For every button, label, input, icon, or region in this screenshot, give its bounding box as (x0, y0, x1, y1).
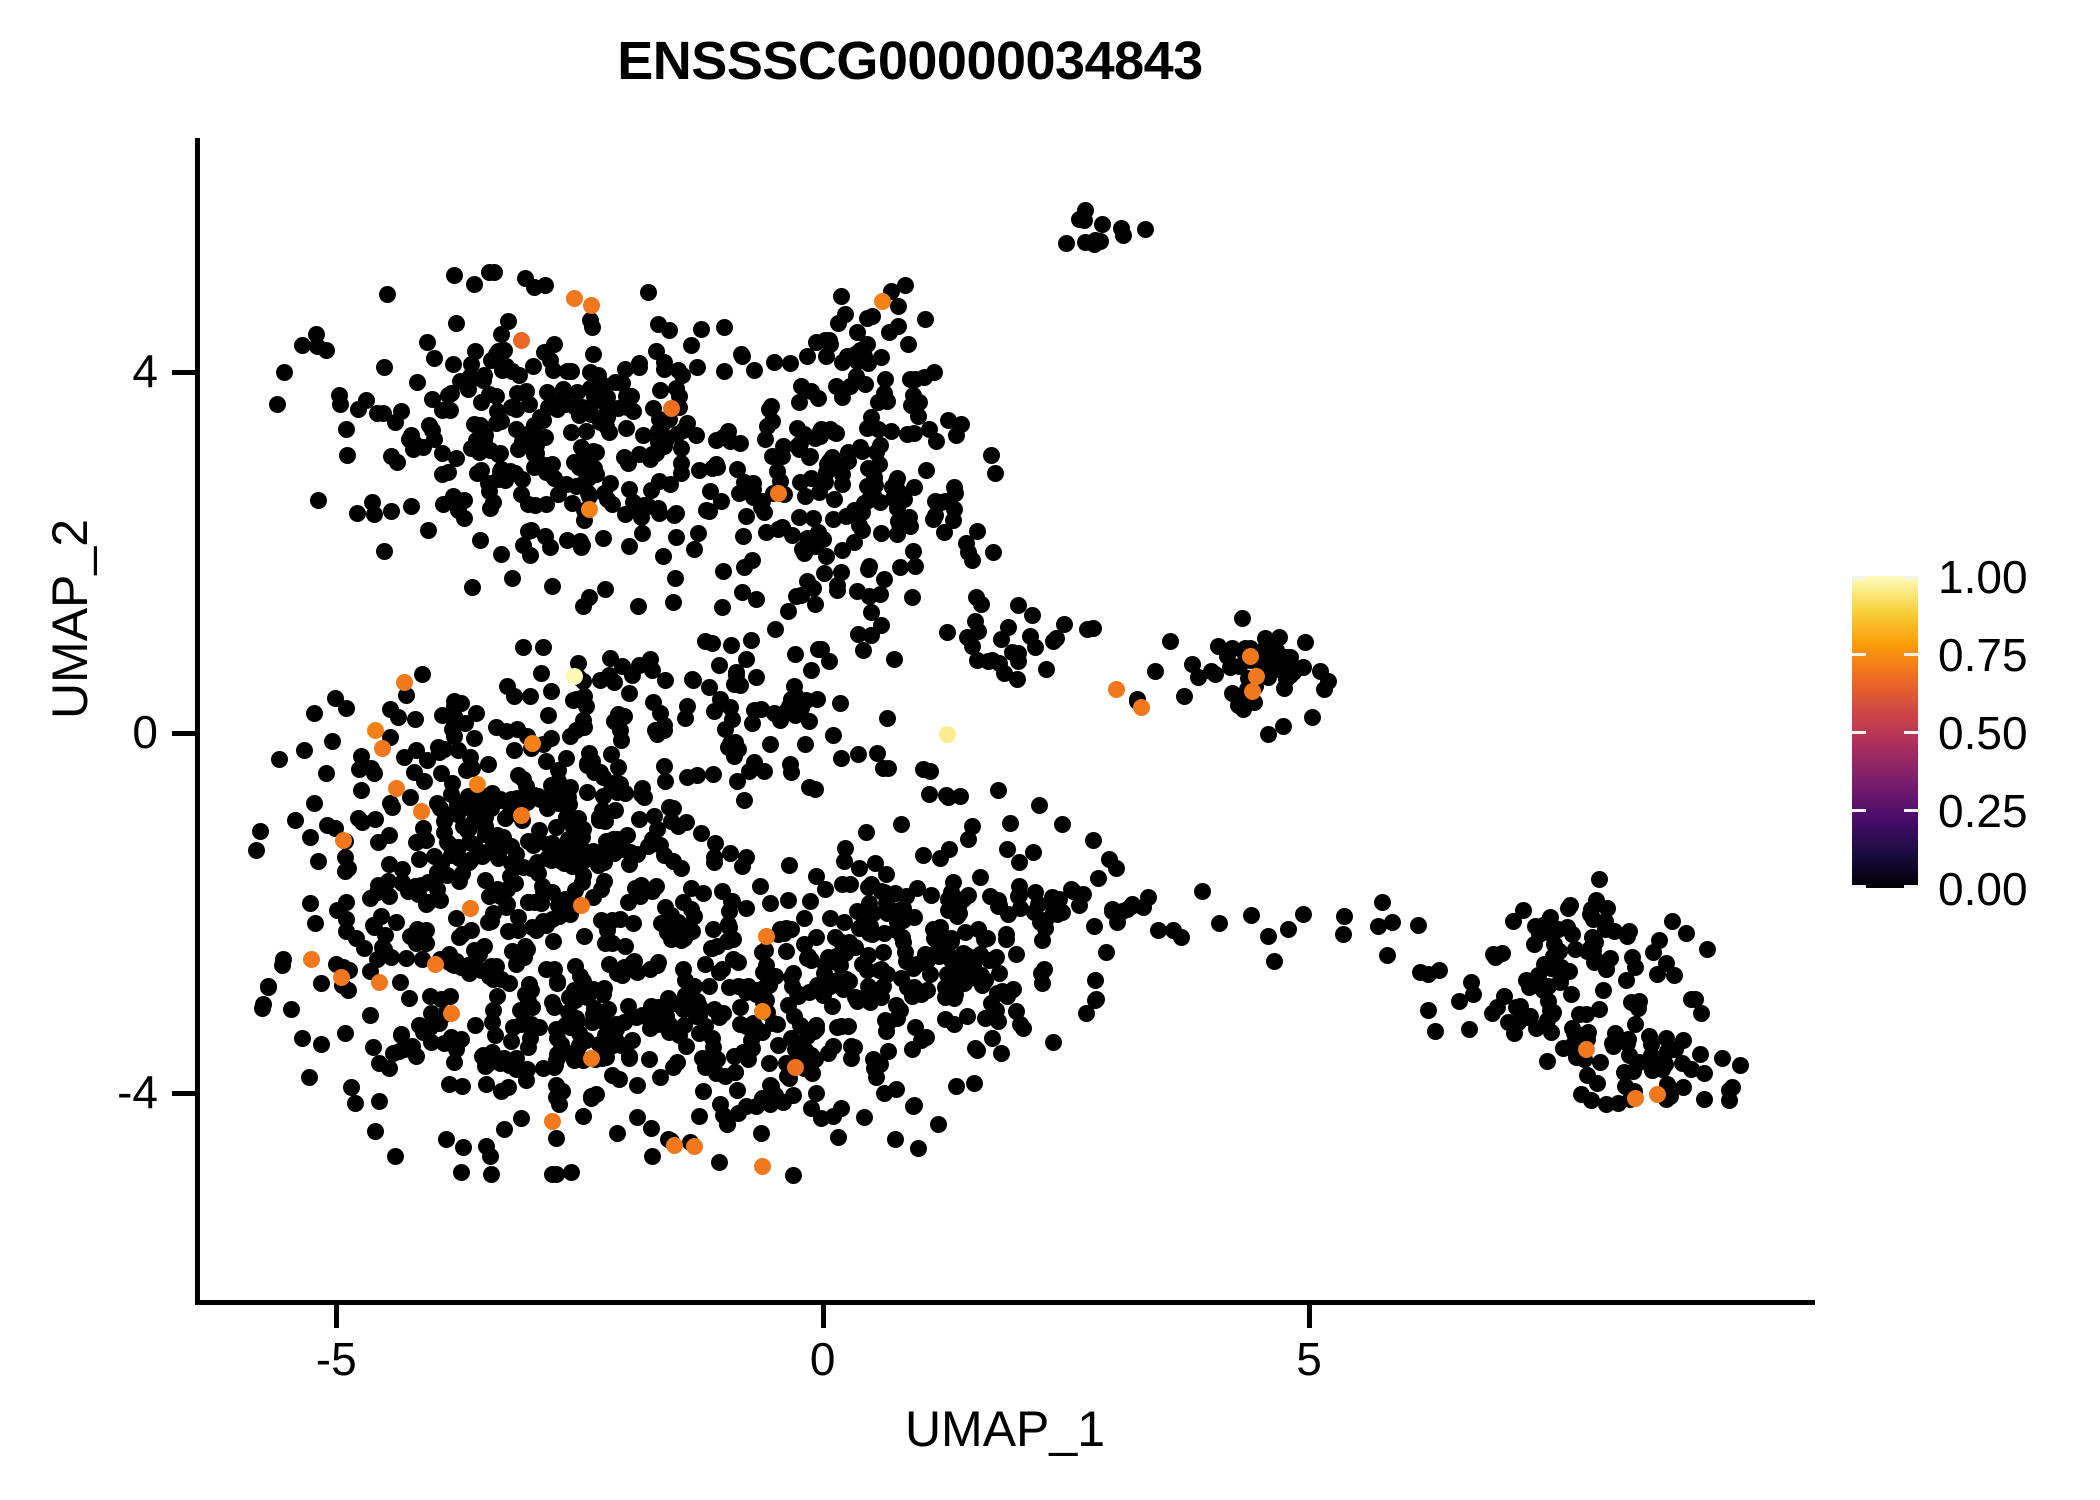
data-point (493, 792, 510, 809)
data-point (477, 872, 494, 889)
x-tick-label: 0 (743, 1336, 903, 1382)
colorbar-tick-label: 0.00 (1938, 866, 2028, 912)
data-point (697, 956, 714, 973)
data-point (730, 954, 747, 971)
data-point-highlighted (374, 740, 391, 757)
data-point (880, 760, 897, 777)
data-point (1592, 1054, 1609, 1071)
data-point (876, 1085, 893, 1102)
data-point (960, 887, 977, 904)
colorbar-tick-mark (1852, 731, 1866, 734)
data-point (969, 1042, 986, 1059)
data-point (1176, 688, 1193, 705)
data-point-highlighted (469, 776, 486, 793)
data-point (489, 403, 506, 420)
data-point (538, 753, 555, 770)
data-point (466, 730, 483, 747)
data-point (517, 986, 534, 1003)
data-point-highlighted (787, 1059, 804, 1076)
data-point (1045, 894, 1062, 911)
data-point (1058, 235, 1075, 252)
data-point (604, 912, 621, 929)
plot-panel (200, 138, 1815, 1300)
data-point (1521, 979, 1538, 996)
data-point (668, 529, 685, 546)
data-point (716, 363, 733, 380)
data-point (1410, 917, 1427, 934)
data-point (483, 352, 500, 369)
data-point (383, 949, 400, 966)
data-point (897, 277, 914, 294)
data-point (688, 427, 705, 444)
data-point (426, 350, 443, 367)
data-point (466, 276, 483, 293)
data-point (850, 746, 867, 763)
data-point (1295, 906, 1312, 923)
data-point (366, 765, 383, 782)
data-point (563, 1164, 580, 1181)
data-point (575, 598, 592, 615)
data-point (1162, 633, 1179, 650)
data-point (1010, 653, 1027, 670)
data-point (309, 338, 326, 355)
data-point (984, 1030, 1001, 1047)
x-tick-mark (334, 1305, 339, 1328)
y-tick-mark (172, 1091, 195, 1096)
data-point (984, 652, 1001, 669)
data-point (1173, 929, 1190, 946)
data-point-highlighted (1244, 683, 1261, 700)
data-point (1651, 932, 1668, 949)
data-point (861, 925, 878, 942)
data-point-highlighted (371, 974, 388, 991)
data-point (720, 739, 737, 756)
data-point (347, 1095, 364, 1112)
data-point (489, 988, 506, 1005)
data-point (987, 465, 1004, 482)
data-point (567, 399, 584, 416)
data-point (964, 638, 981, 655)
data-point (525, 358, 542, 375)
data-point (383, 503, 400, 520)
data-point (364, 494, 381, 511)
data-point (758, 524, 775, 541)
data-point (796, 545, 813, 562)
data-point-highlighted (874, 293, 891, 310)
data-point (746, 362, 763, 379)
data-point (889, 470, 906, 487)
data-point (958, 947, 975, 964)
data-point (899, 426, 916, 443)
data-point (493, 546, 510, 563)
umap-feature-plot: ENSSSCG00000034843 40-4 -505 UMAP_1 UMAP… (0, 0, 2100, 1500)
data-point (877, 1012, 894, 1029)
data-point (307, 915, 324, 932)
data-point (744, 552, 761, 569)
data-point (678, 814, 695, 831)
data-point (712, 691, 729, 708)
data-point (496, 1121, 513, 1138)
data-point (583, 1090, 600, 1107)
data-point (518, 778, 535, 795)
data-point (825, 727, 842, 744)
data-point (381, 1060, 398, 1077)
data-point (537, 429, 554, 446)
colorbar-tick-mark (1904, 653, 1918, 656)
data-point (1137, 221, 1154, 238)
data-point (652, 382, 669, 399)
y-tick-label: -4 (38, 1069, 158, 1115)
data-point (1427, 1023, 1444, 1040)
data-point (818, 348, 835, 365)
data-point (420, 522, 437, 539)
data-point (578, 1032, 595, 1049)
data-point (535, 883, 552, 900)
data-point (1012, 1016, 1029, 1033)
y-axis-label: UMAP_2 (41, 369, 99, 869)
data-point (907, 1019, 924, 1036)
data-point (817, 881, 834, 898)
data-point (445, 356, 462, 373)
data-point (348, 930, 365, 947)
colorbar-tick-mark (1904, 809, 1918, 812)
data-point (921, 786, 938, 803)
data-point (918, 462, 935, 479)
data-point (830, 1129, 847, 1146)
data-point (516, 949, 533, 966)
data-point-highlighted (663, 400, 680, 417)
data-point-highlighted (758, 928, 775, 945)
data-point (711, 1154, 728, 1171)
data-point (796, 910, 813, 927)
data-point (1506, 1025, 1523, 1042)
data-point (1540, 993, 1557, 1010)
data-point (714, 961, 731, 978)
data-point (446, 693, 463, 710)
data-point (1714, 1050, 1731, 1067)
data-point (723, 637, 740, 654)
data-point (890, 318, 907, 335)
data-point (856, 1109, 873, 1126)
data-point-highlighted (754, 1158, 771, 1175)
data-point (349, 505, 366, 522)
data-point (1085, 620, 1102, 637)
data-point (575, 1108, 592, 1125)
data-point (734, 858, 751, 875)
data-point (734, 348, 751, 365)
data-point (729, 773, 746, 790)
data-point (686, 541, 703, 558)
data-point (1078, 1005, 1095, 1022)
data-point (673, 860, 690, 877)
data-point (543, 683, 560, 700)
data-point-highlighted (443, 1005, 460, 1022)
data-point (716, 319, 733, 336)
data-point (833, 750, 850, 767)
data-point (780, 892, 797, 909)
data-point (589, 392, 606, 409)
data-point (1591, 871, 1608, 888)
data-point (579, 784, 596, 801)
data-point (1489, 999, 1506, 1016)
data-point (753, 1125, 770, 1142)
data-point (799, 348, 816, 365)
data-point (826, 491, 843, 508)
data-point (689, 359, 706, 376)
data-point (1056, 616, 1073, 633)
data-point (953, 416, 970, 433)
x-tick-label: -5 (256, 1336, 416, 1382)
data-point (1589, 1075, 1606, 1092)
data-point (640, 284, 657, 301)
data-point-highlighted (573, 897, 590, 914)
data-point (677, 710, 694, 727)
data-point (595, 986, 612, 1003)
data-point (402, 928, 419, 945)
data-point (916, 369, 933, 386)
data-point (338, 894, 355, 911)
data-point (797, 736, 814, 753)
data-point (973, 596, 990, 613)
data-point (840, 1018, 857, 1035)
data-point (509, 721, 526, 738)
data-point (371, 1093, 388, 1110)
data-point (726, 676, 743, 693)
data-point (398, 950, 415, 967)
y-axis-line (195, 138, 200, 1305)
data-point (544, 835, 561, 852)
data-point (584, 1014, 601, 1031)
data-point (376, 359, 393, 376)
data-point (1678, 925, 1695, 942)
data-point (1147, 663, 1164, 680)
data-point (952, 788, 969, 805)
data-point (283, 1001, 300, 1018)
data-point (1266, 953, 1283, 970)
data-point (890, 298, 907, 315)
data-point (860, 492, 877, 509)
data-point (1297, 634, 1314, 651)
data-point (651, 505, 668, 522)
data-point (1619, 1035, 1636, 1052)
data-point (488, 719, 505, 736)
data-point (834, 876, 851, 893)
data-point (1335, 926, 1352, 943)
data-point (1451, 993, 1468, 1010)
data-point (302, 829, 319, 846)
data-point (906, 479, 923, 496)
data-point (464, 579, 481, 596)
data-point-highlighted (303, 951, 320, 968)
data-point (722, 845, 739, 862)
data-point (576, 928, 593, 945)
data-point (506, 742, 523, 759)
data-point (401, 990, 418, 1007)
data-point (618, 420, 635, 437)
data-point (684, 671, 701, 688)
data-point (769, 1016, 786, 1033)
data-point (798, 692, 815, 709)
data-point (1094, 216, 1111, 233)
data-point (563, 424, 580, 441)
data-point (338, 911, 355, 928)
data-point (860, 561, 877, 578)
data-point (455, 1139, 472, 1156)
data-point (1022, 628, 1039, 645)
y-tick-mark (172, 370, 195, 375)
data-point (695, 1083, 712, 1100)
data-point (1282, 649, 1299, 666)
data-point (729, 1082, 746, 1099)
data-point (735, 528, 752, 545)
data-point (802, 893, 819, 910)
data-point-highlighted (939, 726, 956, 743)
data-point (1135, 899, 1152, 916)
data-point (652, 1069, 669, 1086)
data-point (780, 603, 797, 620)
data-point (1025, 844, 1042, 861)
data-point (418, 935, 435, 952)
data-point (642, 451, 659, 468)
data-point (727, 1064, 744, 1081)
data-point (855, 642, 872, 659)
data-point (665, 594, 682, 611)
data-point (490, 446, 507, 463)
data-point (643, 1120, 660, 1137)
data-point (917, 311, 934, 328)
data-point (1420, 1002, 1437, 1019)
data-point (609, 1125, 626, 1142)
data-point (621, 856, 638, 873)
data-point (1625, 1063, 1642, 1080)
data-point-highlighted (581, 501, 598, 518)
data-point (454, 800, 471, 817)
data-point (1370, 918, 1387, 935)
data-point (522, 688, 539, 705)
data-point (597, 935, 614, 952)
data-point (878, 866, 895, 883)
data-point (835, 981, 852, 998)
data-point (252, 823, 269, 840)
data-point (269, 396, 286, 413)
data-point (983, 447, 1000, 464)
data-point (1276, 680, 1293, 697)
data-point (379, 286, 396, 303)
data-point (472, 417, 489, 434)
data-point-highlighted (1108, 681, 1125, 698)
data-point (446, 1054, 463, 1071)
data-point (1610, 1095, 1627, 1112)
data-point (544, 994, 561, 1011)
data-point (752, 878, 769, 895)
colorbar-tick-mark (1904, 885, 1918, 888)
data-point (313, 1036, 330, 1053)
x-axis-label: UMAP_1 (195, 1400, 1815, 1458)
data-point (1693, 1005, 1710, 1022)
data-point (271, 751, 288, 768)
data-point (644, 883, 661, 900)
data-point (689, 767, 706, 784)
data-point (873, 525, 890, 542)
data-point (520, 894, 537, 911)
data-point (780, 997, 797, 1014)
data-point (502, 868, 519, 885)
data-point (613, 1037, 630, 1054)
data-point (448, 315, 465, 332)
data-point (738, 900, 755, 917)
data-point (1087, 972, 1104, 989)
data-point (444, 721, 461, 738)
data-point (248, 842, 265, 859)
data-point (508, 846, 525, 863)
data-point (631, 811, 648, 828)
data-point (1086, 918, 1103, 935)
data-point (880, 1043, 897, 1060)
data-point (1463, 974, 1480, 991)
data-point (467, 343, 484, 360)
data-point-highlighted (388, 780, 405, 797)
data-point (708, 456, 725, 473)
data-point (493, 971, 510, 988)
data-point (575, 973, 592, 990)
data-point (784, 527, 801, 544)
data-point (989, 985, 1006, 1002)
data-point (832, 695, 849, 712)
data-point (1009, 671, 1026, 688)
x-axis-line (195, 1300, 1815, 1305)
data-point (1085, 832, 1102, 849)
data-point (475, 1047, 492, 1064)
data-point (837, 306, 854, 323)
data-point (1008, 946, 1025, 963)
data-point (793, 378, 810, 395)
data-point (715, 563, 732, 580)
data-point (358, 392, 375, 409)
data-point (302, 895, 319, 912)
data-point (993, 1045, 1010, 1062)
data-point (353, 748, 370, 765)
data-point-highlighted (566, 290, 583, 307)
data-point (762, 736, 779, 753)
data-point (863, 604, 880, 621)
data-point-highlighted (583, 297, 600, 314)
data-point-highlighted (1578, 1041, 1595, 1058)
data-point (475, 372, 492, 389)
data-point (545, 933, 562, 950)
data-point (691, 1108, 708, 1125)
data-point (610, 706, 627, 723)
data-point (644, 1148, 661, 1165)
data-point (941, 841, 958, 858)
data-point (1235, 701, 1252, 718)
data-point (1086, 236, 1103, 253)
data-point (667, 570, 684, 587)
data-point (1374, 894, 1391, 911)
data-point (803, 662, 820, 679)
data-point (979, 930, 996, 947)
data-point (945, 874, 962, 891)
data-point (1316, 681, 1333, 698)
data-point-highlighted (1627, 1090, 1644, 1107)
data-point (467, 1017, 484, 1034)
data-point-highlighted (427, 956, 444, 973)
data-point (849, 583, 866, 600)
data-point (822, 910, 839, 927)
x-tick-mark (821, 1305, 826, 1328)
data-point (301, 1069, 318, 1086)
data-point (1675, 1032, 1692, 1049)
colorbar-tick-label: 0.50 (1938, 710, 2028, 756)
